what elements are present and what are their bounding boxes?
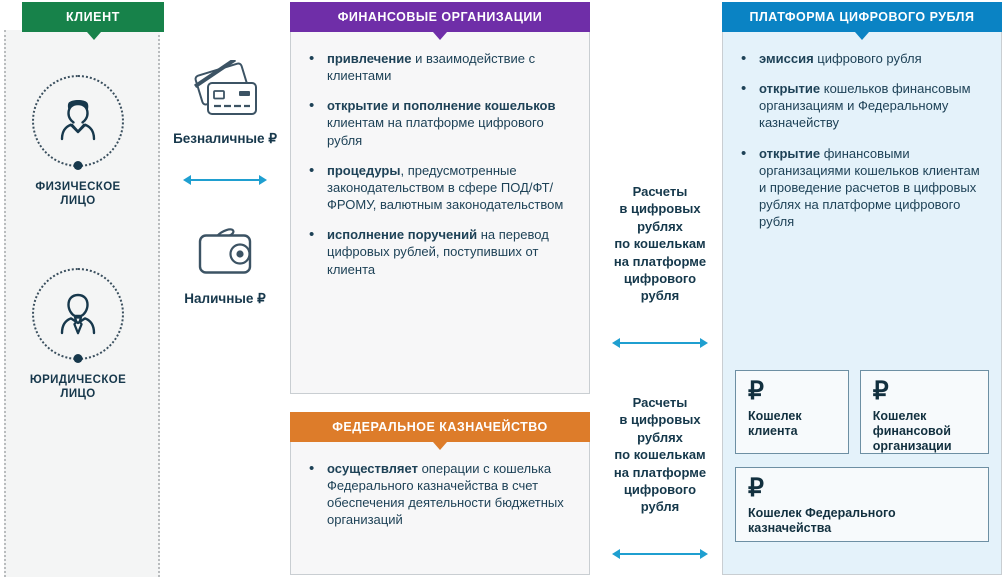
platform-panel: ПЛАТФОРМА ЦИФРОВОГО РУБЛЯ эмиссия цифров… [722,2,1002,575]
bullet-bold: исполнение поручений [327,227,477,242]
bullet-rest: цифрового рубля [814,51,922,66]
client-individual-label: ФИЗИЧЕСКОЕ ЛИЦО [0,180,156,209]
financial-organizations-header: ФИНАНСОВЫЕ ОРГАНИЗАЦИИ [290,2,590,32]
wallet-row: ₽ Кошелек клиента ₽ Кошелек финансовой о… [735,370,989,454]
list-item: осуществляет операции с кошелька Федерал… [307,460,575,529]
arrow-right-tip [700,338,708,348]
financial-organizations-panel: ФИНАНСОВЫЕ ОРГАНИЗАЦИИ привлечение и вза… [290,2,590,394]
client-header: КЛИЕНТ [22,2,164,32]
bullet-bold: привлечение [327,51,411,66]
ruble-icon: ₽ [748,476,978,501]
platform-header: ПЛАТФОРМА ЦИФРОВОГО РУБЛЯ [722,2,1002,32]
bullet-bold: открытие и пополнение кошельков [327,98,555,113]
arrow-line [619,342,701,344]
settlements-top-arrow [612,336,708,350]
arrow-right-tip [259,175,267,185]
bullet-bold: эмиссия [759,51,814,66]
arrow-line [619,553,701,555]
wallet-card-client-label: Кошелек клиента [748,409,838,439]
cash-label: Наличные ₽ [160,291,290,307]
settlements-bottom-arrow [612,547,708,561]
platform-notch [855,32,869,40]
settlements-bottom-text: Расчеты в цифровых рублях по кошелькам н… [593,394,727,516]
list-item: процедуры, предусмотренные законодательс… [307,162,575,213]
federal-treasury-notch [433,442,447,450]
list-item: открытие кошельков финансовым организаци… [739,80,987,131]
cashless-arrow [183,173,267,187]
bullet-bold: процедуры [327,163,400,178]
bullet-rest: клиентам на платформе цифрового рубля [327,115,544,147]
arrow-line [190,179,260,181]
wallet-card-financial-organization-label: Кошелек финансовой организации [873,409,978,454]
client-legal-entity-label: ЮРИДИЧЕСКОЕ ЛИЦО [0,373,156,402]
financial-organizations-notch [433,32,447,40]
arrow-right-tip [700,549,708,559]
financial-organizations-bullets: привлечение и взаимодействие с клиентами… [291,32,589,278]
credit-cards-icon [184,109,266,126]
person-tie-avatar-icon [32,268,124,360]
wallet-icon [192,269,258,286]
ruble-icon: ₽ [748,379,838,404]
cashless-money-block: Безналичные ₽ [160,60,290,147]
client-individual: ФИЗИЧЕСКОЕ ЛИЦО [0,75,156,209]
client-header-notch [87,32,101,40]
list-item: открытие финансовыми организациями кошел… [739,145,987,231]
settlements-top-text: Расчеты в цифровых рублях по кошелькам н… [593,183,727,305]
wallet-card-federal-treasury: ₽ Кошелек Федерального казначейства [735,467,989,542]
federal-treasury-panel: ФЕДЕРАЛЬНОЕ КАЗНАЧЕЙСТВО осуществляет оп… [290,412,590,575]
list-item: привлечение и взаимодействие с клиентами [307,50,575,84]
cashless-label: Безналичные ₽ [160,131,290,147]
wallet-card-client: ₽ Кошелек клиента [735,370,849,454]
federal-treasury-header: ФЕДЕРАЛЬНОЕ КАЗНАЧЕЙСТВО [290,412,590,442]
client-legal-entity: ЮРИДИЧЕСКОЕ ЛИЦО [0,268,156,402]
bullet-bold: осуществляет [327,461,418,476]
list-item: эмиссия цифрового рубля [739,50,987,67]
wallet-card-financial-organization: ₽ Кошелек финансовой организации [860,370,989,454]
platform-wallets: ₽ Кошелек клиента ₽ Кошелек финансовой о… [735,370,989,542]
person-avatar-icon [32,75,124,167]
bullet-bold: открытие [759,146,820,161]
list-item: открытие и пополнение кошельков клиентам… [307,97,575,148]
federal-treasury-bullets: осуществляет операции с кошелька Федерал… [291,442,589,529]
bullet-bold: открытие [759,81,820,96]
platform-body: эмиссия цифрового рубля открытие кошельк… [722,32,1002,575]
cash-money-block: Наличные ₽ [160,226,290,307]
platform-bullets: эмиссия цифрового рубля открытие кошельк… [723,32,1001,230]
ruble-icon: ₽ [873,379,978,404]
federal-treasury-body: осуществляет операции с кошелька Федерал… [290,442,590,575]
list-item: исполнение поручений на перевод цифровых… [307,226,575,277]
wallet-card-federal-treasury-label: Кошелек Федерального казначейства [748,506,978,536]
financial-organizations-body: привлечение и взаимодействие с клиентами… [290,32,590,394]
